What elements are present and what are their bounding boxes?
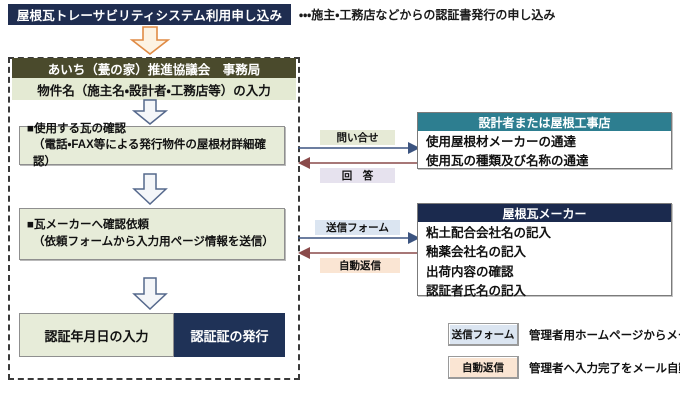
card-designer-roofer: 設計者または屋根工事店 使用屋根材メーカーの通達 使用瓦の種類及び名称の通達 [417, 112, 672, 169]
system-title-bar: 屋根瓦トレーサビリティシステム利用申し込み [8, 4, 291, 25]
card-designer-line-2: 使用瓦の種類及び名称の通達 [426, 152, 671, 171]
system-title-note: ・・・施主・工務店などからの認証書発行の申し込み [299, 5, 679, 24]
card-maker-line-1: 粘土配合会社名の記入 [426, 224, 671, 243]
card-designer-heading: 設計者または屋根工事店 [418, 113, 671, 131]
legend-row-auto-reply: 自動返信 管理者へ入力完了をメール自動送信 [448, 356, 680, 379]
legend-text-send-form: 管理者用ホームページからメール送信 [529, 327, 680, 343]
certification-date-text: 認証年月日の入力 [44, 326, 148, 345]
connector-label-send-form: 送信フォーム [315, 220, 400, 235]
diagram-canvas: 屋根瓦トレーサビリティシステム利用申し込み ・・・施主・工務店などからの認証書発… [0, 0, 680, 412]
card-maker-line-2: 釉薬会社名の記入 [426, 243, 671, 262]
connector-label-answer: 回 答 [320, 168, 395, 183]
step-confirm-detail: （電話・FAX等による発行物件の屋根材詳細確認） [27, 137, 277, 170]
step-confirm-tile: ■使用する瓦の確認 （電話・FAX等による発行物件の屋根材詳細確認） [19, 126, 285, 165]
certificate-issue-tile: 認証証の発行 [174, 313, 285, 357]
legend-swatch-send-form: 送信フォーム [448, 323, 519, 346]
step-confirm-title: ■使用する瓦の確認 [27, 121, 277, 138]
arrow-down-step3-icon [130, 277, 170, 310]
step-request-detail: （依頼フォームから入力用ページ情報を送信） [27, 234, 277, 251]
legend-text-auto-reply: 管理者へ入力完了をメール自動送信 [529, 360, 680, 376]
office-header: あいち（甍の家）推進協議会 事務局 [12, 58, 296, 78]
system-title-text: 屋根瓦トレーサビリティシステム利用申し込み [17, 5, 282, 24]
card-maker-heading: 屋根瓦メーカー [418, 204, 671, 222]
card-maker-body: 粘土配合会社名の記入 釉薬会社名の記入 出荷内容の確認 認証者氏名の記入 [418, 222, 671, 305]
connector-label-inquiry: 問い合せ [320, 130, 395, 145]
card-designer-line-1: 使用屋根材メーカーの通達 [426, 133, 671, 152]
step-request-tile: ■瓦メーカーへ確認依頼 （依頼フォームから入力用ページ情報を送信） [19, 208, 285, 260]
card-maker-line-4: 認証者氏名の記入 [426, 282, 671, 301]
arrow-down-step2-icon [130, 173, 170, 205]
certificate-issue-text: 認証証の発行 [190, 326, 268, 345]
property-input-row: 物件名（施主名・設計者・工務店等）の入力 [12, 78, 296, 100]
step-request-title: ■瓦メーカーへ確認依頼 [27, 217, 277, 234]
connector-label-auto-reply: 自動返信 [320, 258, 400, 273]
property-input-text: 物件名（施主名・設計者・工務店等）の入力 [37, 80, 271, 99]
card-maker-line-3: 出荷内容の確認 [426, 263, 671, 282]
arrow-down-intake-icon [128, 26, 172, 55]
card-designer-body: 使用屋根材メーカーの通達 使用瓦の種類及び名称の通達 [418, 131, 671, 175]
certification-date-tile: 認証年月日の入力 [19, 313, 174, 357]
card-tile-maker: 屋根瓦メーカー 粘土配合会社名の記入 釉薬会社名の記入 出荷内容の確認 認証者氏… [417, 203, 672, 296]
legend-row-send-form: 送信フォーム 管理者用ホームページからメール送信 [448, 323, 680, 346]
legend-swatch-auto-reply: 自動返信 [448, 356, 519, 379]
office-header-text: あいち（甍の家）推進協議会 事務局 [48, 59, 261, 78]
